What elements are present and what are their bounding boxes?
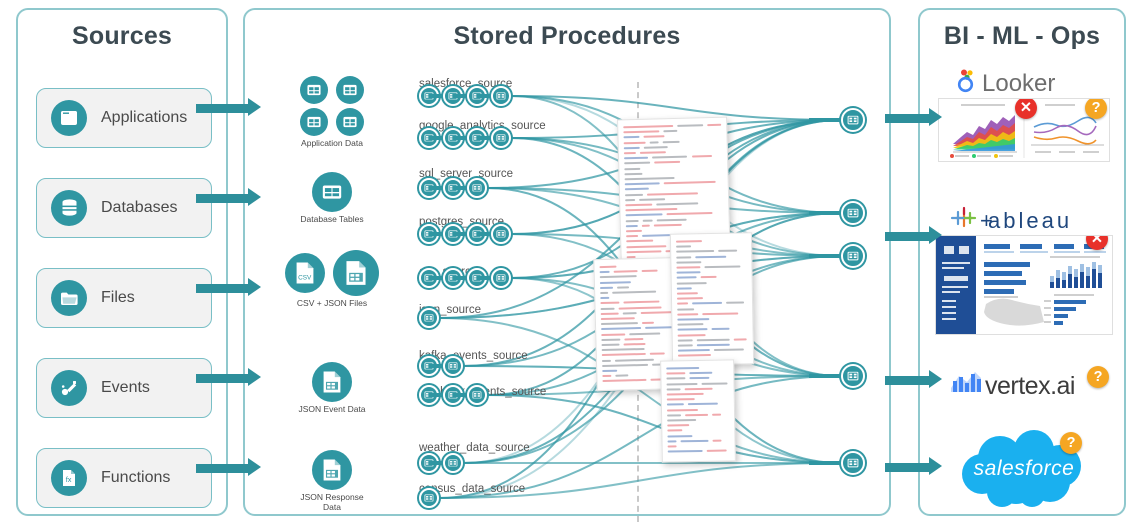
salesforce-wordmark: salesforce [956, 457, 1092, 481]
lineage-target-node[interactable] [841, 244, 865, 268]
source-item-label: Events [101, 379, 150, 397]
lineage-target-node[interactable] [841, 451, 865, 475]
lineage-source-node[interactable] [467, 385, 487, 405]
function-document-icon: fx [51, 460, 87, 496]
lineage-source-node[interactable] [443, 453, 463, 473]
lineage-graph: salesforce_source google_analytics_sourc… [243, 8, 891, 516]
source-item-files[interactable]: Files [36, 268, 212, 328]
svg-text:fx: fx [66, 475, 72, 484]
arrow-procedures-to-bi-4 [885, 461, 942, 473]
arrow-sources-to-procedures-2 [196, 192, 261, 204]
lineage-source-node[interactable] [491, 268, 511, 288]
events-icon [51, 370, 87, 406]
lineage-source-node[interactable] [491, 86, 511, 106]
bi-destination-salesforce[interactable]: salesforce ? [920, 428, 1128, 515]
arrow-sources-to-procedures-5 [196, 462, 261, 474]
source-item-label: Databases [101, 199, 178, 217]
database-cylinder-icon [51, 190, 87, 226]
svg-text:vertex.ai: vertex.ai [985, 372, 1075, 400]
bi-destination-tableau[interactable]: ableau + ✕ [920, 206, 1128, 340]
lineage-target-node[interactable] [841, 364, 865, 388]
source-item-databases[interactable]: Databases [36, 178, 212, 238]
source-item-applications[interactable]: Applications [36, 88, 212, 148]
arrow-procedures-to-bi-3 [885, 374, 942, 386]
source-item-events[interactable]: Events [36, 358, 212, 418]
svg-text:+: + [980, 208, 993, 232]
error-x-badge[interactable]: ✕ [1015, 98, 1037, 119]
bi-destination-vertex-ai[interactable]: vertex.ai ? [920, 368, 1128, 407]
sources-panel-title: Sources [18, 22, 226, 51]
folder-icon [51, 280, 87, 316]
lineage-source-node[interactable] [419, 308, 439, 328]
svg-text:Looker: Looker [982, 70, 1055, 94]
sql-code-window [660, 359, 736, 462]
lineage-target-node[interactable] [841, 108, 865, 132]
source-item-functions[interactable]: fxFunctions [36, 448, 212, 508]
lineage-source-node[interactable] [467, 178, 487, 198]
lineage-source-node[interactable] [491, 224, 511, 244]
arrow-procedures-to-bi-1 [885, 112, 942, 124]
source-item-label: Files [101, 289, 135, 307]
arrow-sources-to-procedures-4 [196, 372, 261, 384]
tableau-logo: ableau + [920, 206, 1128, 232]
lineage-source-label: weather_data_source [419, 442, 530, 454]
tableau-dashboard-thumbnail[interactable]: ✕ [935, 235, 1113, 335]
sources-panel: Sources ApplicationsDatabasesFilesEvents… [16, 8, 228, 516]
warning-question-badge[interactable]: ? [1087, 366, 1109, 388]
lineage-target-node[interactable] [841, 201, 865, 225]
warning-question-badge[interactable]: ? [1060, 432, 1082, 454]
diagram-canvas: Sources ApplicationsDatabasesFilesEvents… [0, 0, 1140, 530]
source-item-label: Functions [101, 469, 170, 487]
bi-ml-ops-panel: BI - ML - Ops Looker [918, 8, 1126, 516]
vertex-ai-logo: vertex.ai ? [945, 368, 1103, 402]
salesforce-cloud-logo: salesforce ? [956, 428, 1092, 510]
arrow-sources-to-procedures-3 [196, 282, 261, 294]
bi-panel-title: BI - ML - Ops [920, 22, 1124, 51]
lineage-source-node[interactable] [419, 488, 439, 508]
looker-dashboard-thumbnail[interactable]: ✕ ? [938, 98, 1110, 162]
lineage-source-node[interactable] [443, 356, 463, 376]
looker-logo: Looker [920, 68, 1128, 94]
source-item-label: Applications [101, 109, 187, 127]
warning-question-badge[interactable]: ? [1085, 98, 1107, 119]
application-window-icon [51, 100, 87, 136]
svg-text:ableau: ableau [988, 208, 1072, 232]
arrow-sources-to-procedures-1 [196, 102, 261, 114]
bi-destination-looker[interactable]: Looker ✕ ? [920, 68, 1128, 167]
sql-code-window [670, 232, 754, 365]
lineage-source-node[interactable] [491, 128, 511, 148]
arrow-procedures-to-bi-2 [885, 230, 942, 242]
